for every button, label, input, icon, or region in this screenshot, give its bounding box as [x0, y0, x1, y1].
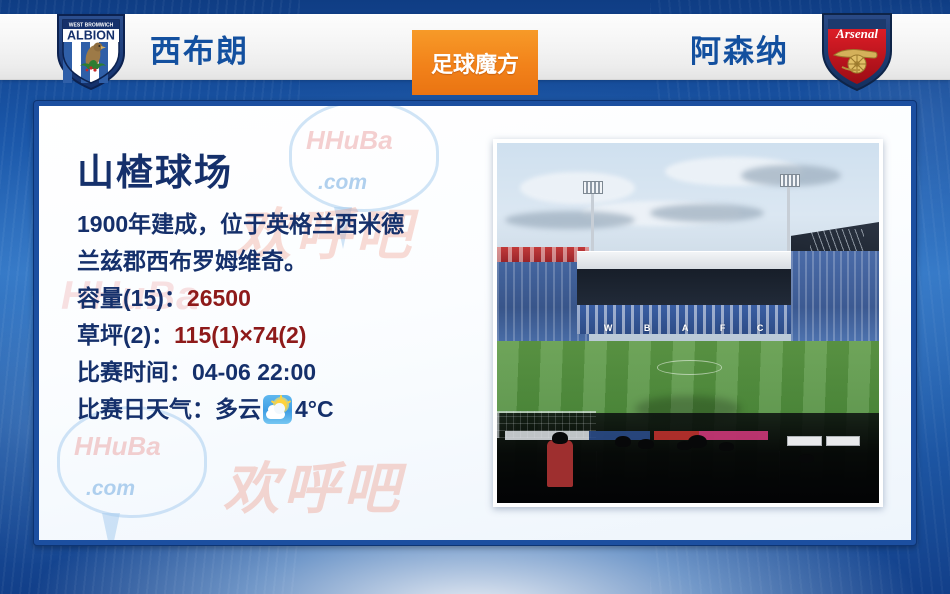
home-crest-svg: WEST BROMWICH ALBION	[46, 5, 136, 95]
left-stand-seating	[497, 262, 589, 345]
stand-letter-mosaic: WBAFC	[589, 316, 780, 341]
spectator-head	[615, 436, 630, 447]
center-circle	[657, 360, 722, 375]
stadium-info-card: HHuBa .com HHuBa .com 欢呼吧 欢呼吧 HHuBa 山楂球场…	[33, 100, 917, 546]
spectator-red-shirt	[547, 440, 574, 487]
stadium-info-panel: HHuBa .com HHuBa .com 欢呼吧 欢呼吧 HHuBa 山楂球场…	[39, 106, 911, 540]
home-team-name: 西布朗	[150, 31, 249, 73]
west-bromwich-albion-crest[interactable]: WEST BROMWICH ALBION	[46, 5, 136, 95]
far-stand-roof	[577, 251, 791, 269]
spectator-head	[799, 454, 814, 463]
match-time-label: 比赛时间：	[77, 359, 192, 385]
capacity-value: 26500	[187, 285, 251, 311]
cloud	[520, 172, 635, 204]
site-logo[interactable]: 足球魔方	[412, 30, 538, 95]
svg-text:Arsenal: Arsenal	[835, 26, 878, 41]
advertising-board	[505, 431, 589, 440]
spectator-head	[688, 435, 707, 449]
capacity-label: 容量(15)：	[77, 285, 187, 311]
capacity-row: 容量(15)：26500	[77, 280, 507, 317]
stadium-photo: WBAFC	[497, 143, 879, 503]
stand-letter: B	[644, 323, 652, 333]
site-logo-text: 足球魔方	[431, 47, 519, 79]
stadium-title: 山楂球场	[77, 142, 507, 196]
pitch-size-value: 115(1)×74(2)	[174, 322, 306, 348]
away-crest-svg: Arsenal	[812, 5, 902, 95]
arsenal-crest[interactable]: Arsenal	[812, 5, 902, 95]
sun-ray	[271, 400, 275, 404]
away-team-name: 阿森纳	[690, 31, 789, 73]
partly-cloudy-icon	[263, 395, 292, 424]
stand-letter: C	[757, 323, 765, 333]
advertising-board	[699, 431, 768, 440]
weather-value: 多云	[215, 391, 261, 428]
cloud-shape	[266, 410, 285, 419]
pitch-size-label: 草坪(2)：	[77, 322, 174, 348]
far-stand-shade	[577, 269, 791, 305]
weather-label: 比赛日天气：	[77, 391, 215, 428]
stadium-description-line-2: 兰兹郡西布罗姆维奇。	[77, 243, 507, 280]
sun-ray	[287, 400, 291, 404]
sun-ray	[280, 395, 282, 399]
match-time-value: 04-06 22:00	[192, 359, 316, 385]
stadium-photo-frame[interactable]: WBAFC	[493, 139, 883, 507]
watermark-brand: HHuBa	[74, 431, 161, 462]
stadium-details: 山楂球场 1900年建成，位于英格兰西米德 兰兹郡西布罗姆维奇。 容量(15)：…	[77, 142, 507, 428]
stand-letter: W	[604, 323, 614, 333]
match-day-weather-row: 比赛日天气：多云 4°C	[77, 391, 507, 428]
foreground-crowd	[497, 413, 879, 503]
spectator-head	[719, 442, 734, 451]
weather-temperature: 4°C	[295, 391, 334, 428]
right-stand-seating	[791, 251, 879, 345]
watermark-brand-cn-bottom: 欢呼吧	[223, 444, 403, 525]
stand-letter: F	[720, 323, 727, 333]
left-stand-roof	[497, 247, 589, 261]
match-header-bar: WEST BROMWICH ALBION 西布朗 足球魔方 阿森纳	[0, 14, 950, 80]
watermark-domain: .com	[86, 477, 135, 501]
advertising-board	[787, 436, 821, 446]
stadium-description-line-1: 1900年建成，位于英格兰西米德	[77, 206, 507, 243]
floodlight-head	[780, 174, 800, 187]
svg-text:ALBION: ALBION	[67, 29, 115, 43]
floodlight-pylon	[787, 179, 790, 251]
stand-letter: A	[682, 323, 690, 333]
floodlight-head	[583, 181, 603, 194]
spectator-head	[638, 439, 653, 449]
match-time-row: 比赛时间：04-06 22:00	[77, 354, 507, 391]
pitch-size-row: 草坪(2)：115(1)×74(2)	[77, 317, 507, 354]
advertising-board	[826, 436, 860, 446]
spectator-head	[552, 432, 567, 444]
